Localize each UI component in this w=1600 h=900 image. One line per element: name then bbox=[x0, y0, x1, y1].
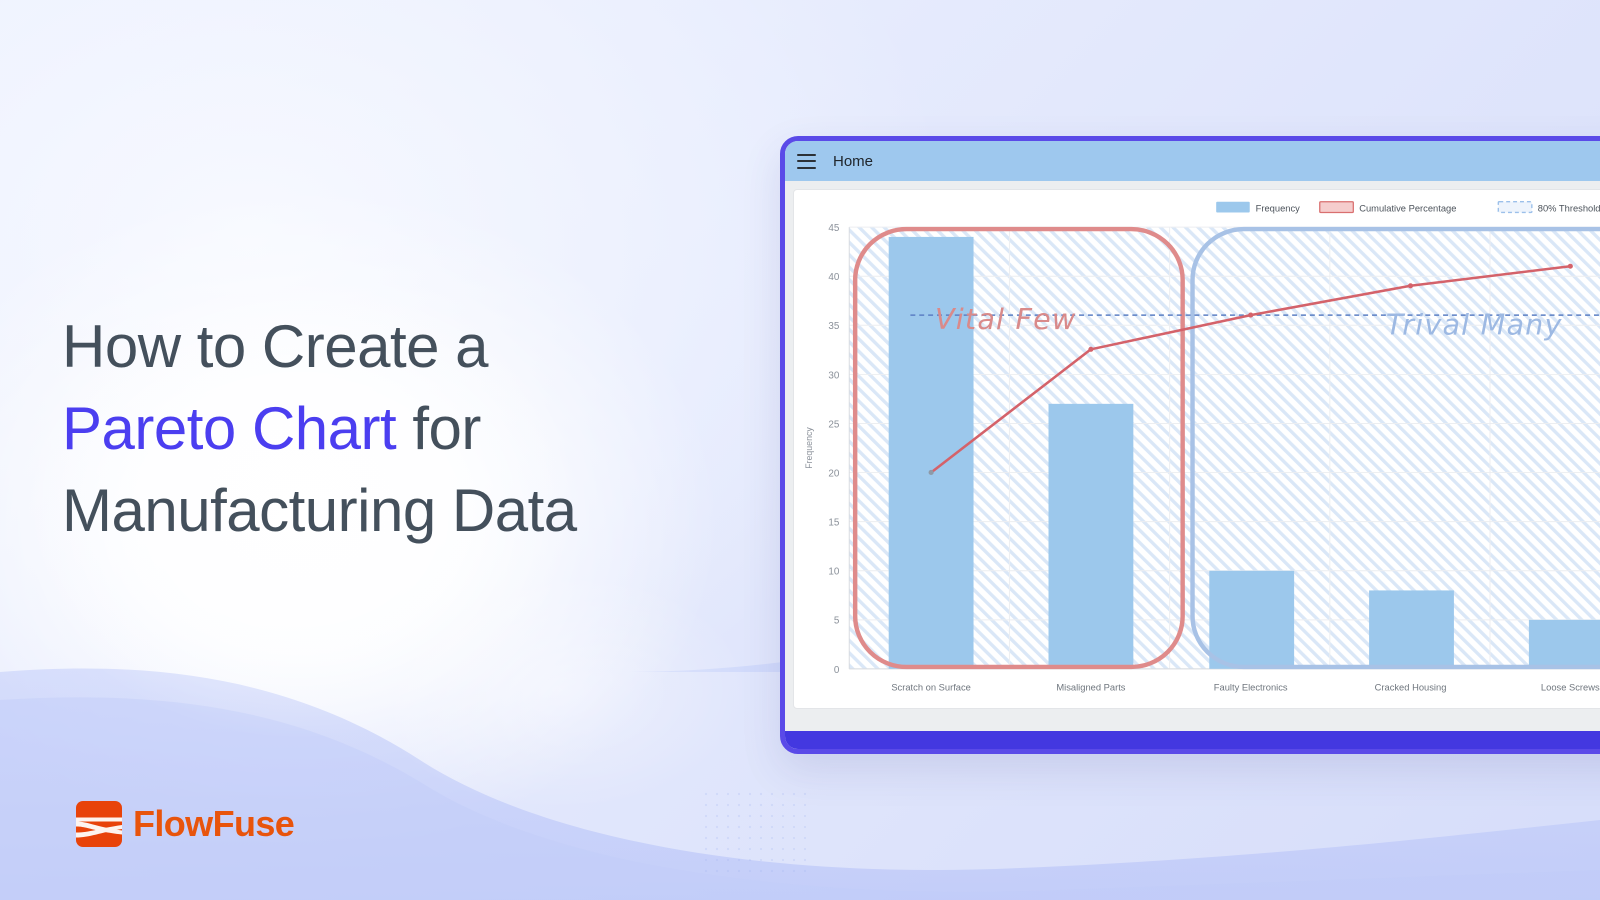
line-point[interactable] bbox=[1568, 264, 1573, 269]
chart-legend[interactable]: Frequency Cumulative Percentage 80% Thre… bbox=[1216, 202, 1600, 214]
legend-swatch-frequency bbox=[1216, 202, 1250, 213]
legend-swatch-80-threshold bbox=[1498, 202, 1532, 213]
bar-loose-screws[interactable] bbox=[1529, 620, 1600, 669]
legend-swatch-cumulative-percentage bbox=[1320, 202, 1354, 213]
page-title: How to Create aPareto Chart forManufactu… bbox=[62, 306, 822, 553]
y-tick: 30 bbox=[828, 370, 840, 381]
title-line-2-tail: for bbox=[396, 395, 481, 462]
y-tick: 45 bbox=[828, 223, 840, 234]
y-axis-title: Frequency bbox=[804, 427, 814, 469]
title-line-3: Manufacturing Data bbox=[62, 477, 577, 544]
line-point[interactable] bbox=[929, 470, 934, 475]
legend-label-frequency: Frequency bbox=[1256, 204, 1301, 214]
bar-cracked-housing[interactable] bbox=[1369, 590, 1454, 668]
y-tick: 0 bbox=[834, 665, 840, 676]
y-tick: 35 bbox=[828, 321, 840, 332]
y-tick: 40 bbox=[828, 272, 840, 283]
y-tick: 5 bbox=[834, 616, 840, 627]
x-tick-label: Scratch on Surface bbox=[891, 682, 971, 692]
flowfuse-logo[interactable]: FlowFuse bbox=[76, 801, 294, 847]
app-title: Home bbox=[833, 153, 873, 170]
title-accent: Pareto Chart bbox=[62, 395, 396, 462]
legend-label-cumulative-percentage: Cumulative Percentage bbox=[1359, 204, 1456, 214]
bar-faulty-electronics[interactable] bbox=[1209, 571, 1294, 669]
dashboard-device-frame: Home bbox=[780, 136, 1600, 754]
brand-wordmark: FlowFuse bbox=[133, 803, 294, 845]
pareto-chart[interactable]: 45 40 35 30 25 20 15 10 5 0 Frequency bbox=[794, 190, 1600, 708]
y-tick: 15 bbox=[828, 518, 840, 529]
hero-section: How to Create aPareto Chart forManufactu… bbox=[62, 306, 822, 553]
y-tick: 20 bbox=[828, 469, 840, 480]
legend-label-80-threshold: 80% Threshold bbox=[1538, 204, 1600, 214]
x-tick-label: Faulty Electronics bbox=[1214, 682, 1288, 692]
x-tick-label: Loose Screws bbox=[1541, 682, 1600, 692]
y-tick: 25 bbox=[828, 419, 840, 430]
x-tick-label: Cracked Housing bbox=[1375, 682, 1447, 692]
flowfuse-mark-icon bbox=[76, 801, 122, 847]
x-tick-label: Misaligned Parts bbox=[1056, 682, 1126, 692]
title-line-1: How to Create a bbox=[62, 313, 488, 380]
bar-misaligned-parts[interactable] bbox=[1048, 404, 1133, 669]
device-bottom-bar bbox=[785, 731, 1600, 749]
x-axis-category-labels: Scratch on Surface Misaligned Parts Faul… bbox=[891, 682, 1600, 692]
y-tick: 10 bbox=[828, 567, 840, 578]
line-point[interactable] bbox=[1408, 283, 1413, 288]
annotation-trivial-many: Trival Many bbox=[1386, 309, 1563, 342]
hamburger-icon[interactable] bbox=[797, 154, 816, 169]
annotation-vital-few: Vital Few bbox=[935, 303, 1076, 336]
chart-card: 45 40 35 30 25 20 15 10 5 0 Frequency bbox=[793, 189, 1600, 709]
y-axis-ticks: 45 40 35 30 25 20 15 10 5 0 bbox=[828, 223, 840, 676]
bar-scratch-on-surface[interactable] bbox=[889, 237, 974, 669]
line-point[interactable] bbox=[1248, 313, 1253, 318]
line-point[interactable] bbox=[1088, 347, 1093, 352]
app-header: Home bbox=[785, 141, 1600, 181]
